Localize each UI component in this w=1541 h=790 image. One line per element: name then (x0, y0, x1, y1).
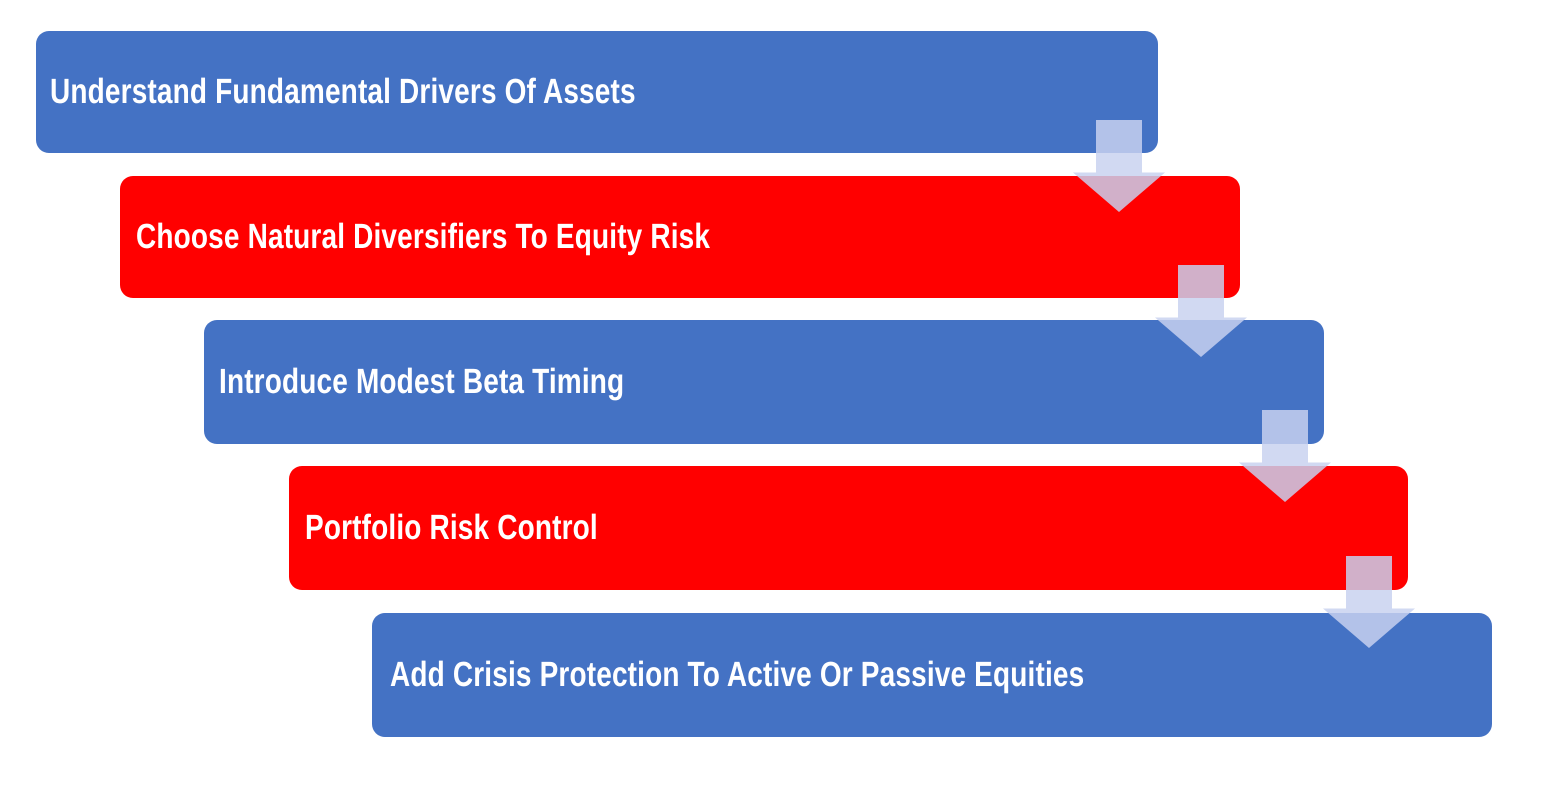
process-step-1-label: Understand Fundamental Drivers Of Assets (50, 74, 636, 111)
process-step-5[interactable]: Add Crisis Protection To Active Or Passi… (372, 613, 1492, 737)
process-step-5-label: Add Crisis Protection To Active Or Passi… (390, 657, 1084, 694)
process-step-2[interactable]: Choose Natural Diversifiers To Equity Ri… (120, 176, 1240, 298)
process-step-1[interactable]: Understand Fundamental Drivers Of Assets (36, 31, 1158, 153)
process-step-3[interactable]: Introduce Modest Beta Timing (204, 320, 1324, 444)
process-step-2-label: Choose Natural Diversifiers To Equity Ri… (136, 219, 710, 256)
process-step-3-label: Introduce Modest Beta Timing (219, 364, 624, 401)
process-step-4[interactable]: Portfolio Risk Control (289, 466, 1408, 590)
diagram-canvas: Understand Fundamental Drivers Of Assets… (0, 0, 1541, 790)
process-step-4-label: Portfolio Risk Control (305, 510, 598, 547)
